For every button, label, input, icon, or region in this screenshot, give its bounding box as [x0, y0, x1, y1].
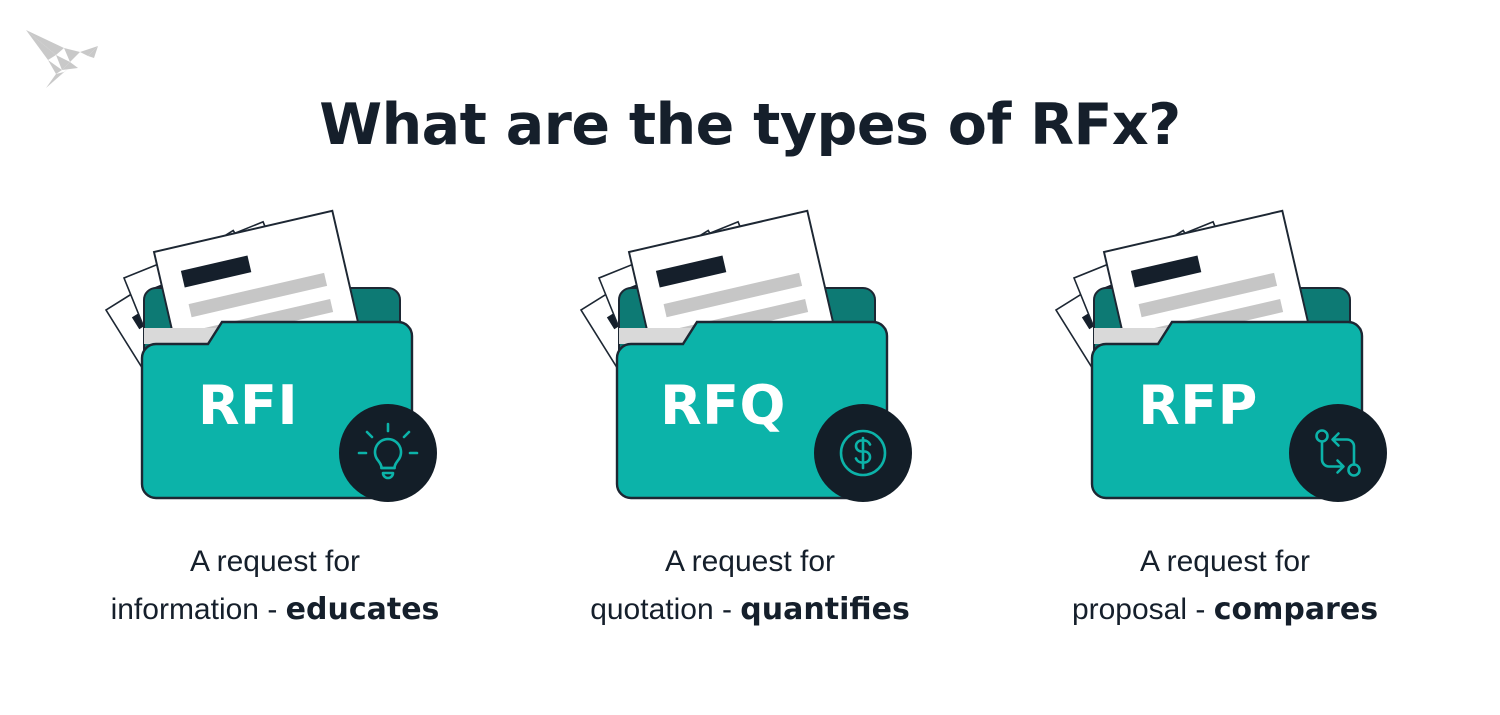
caption-line-2: information - educates: [55, 586, 495, 634]
card-rfp: RFP A request for proposal - compares: [995, 160, 1455, 634]
caption-line-2: proposal - compares: [1005, 586, 1445, 634]
caption-rfi: A request for information - educates: [55, 538, 495, 634]
badge-dollar-circle: [814, 404, 912, 502]
caption-prefix: proposal -: [1072, 593, 1214, 626]
badge-compare-branch: [1289, 404, 1387, 502]
badge-lightbulb: [339, 404, 437, 502]
caption-line-1: A request for: [530, 538, 970, 586]
caption-line-2: quotation - quantifies: [530, 586, 970, 634]
caption-line-1: A request for: [55, 538, 495, 586]
folder-illustration-rfp: RFP: [1048, 160, 1408, 520]
infographic-page: What are the types of RFx?: [0, 0, 1500, 715]
caption-prefix: quotation -: [590, 593, 740, 626]
folder-illustration-rfq: RFQ: [573, 160, 933, 520]
origami-bird-logo: [18, 22, 118, 94]
folder-illustration-rfi: RFI: [98, 160, 458, 520]
page-title: What are the types of RFx?: [0, 90, 1500, 160]
card-rfq: RFQ A request for quotation - quantifies: [520, 160, 980, 634]
caption-keyword: quantifies: [740, 592, 910, 627]
caption-rfp: A request for proposal - compares: [1005, 538, 1445, 634]
caption-keyword: educates: [286, 592, 440, 627]
caption-line-1: A request for: [1005, 538, 1445, 586]
caption-rfq: A request for quotation - quantifies: [530, 538, 970, 634]
card-rfi: RFI A request for information - educates: [45, 160, 505, 634]
card-row: RFI A request for information - educates: [0, 160, 1500, 690]
caption-prefix: information -: [111, 593, 286, 626]
caption-keyword: compares: [1214, 592, 1378, 627]
